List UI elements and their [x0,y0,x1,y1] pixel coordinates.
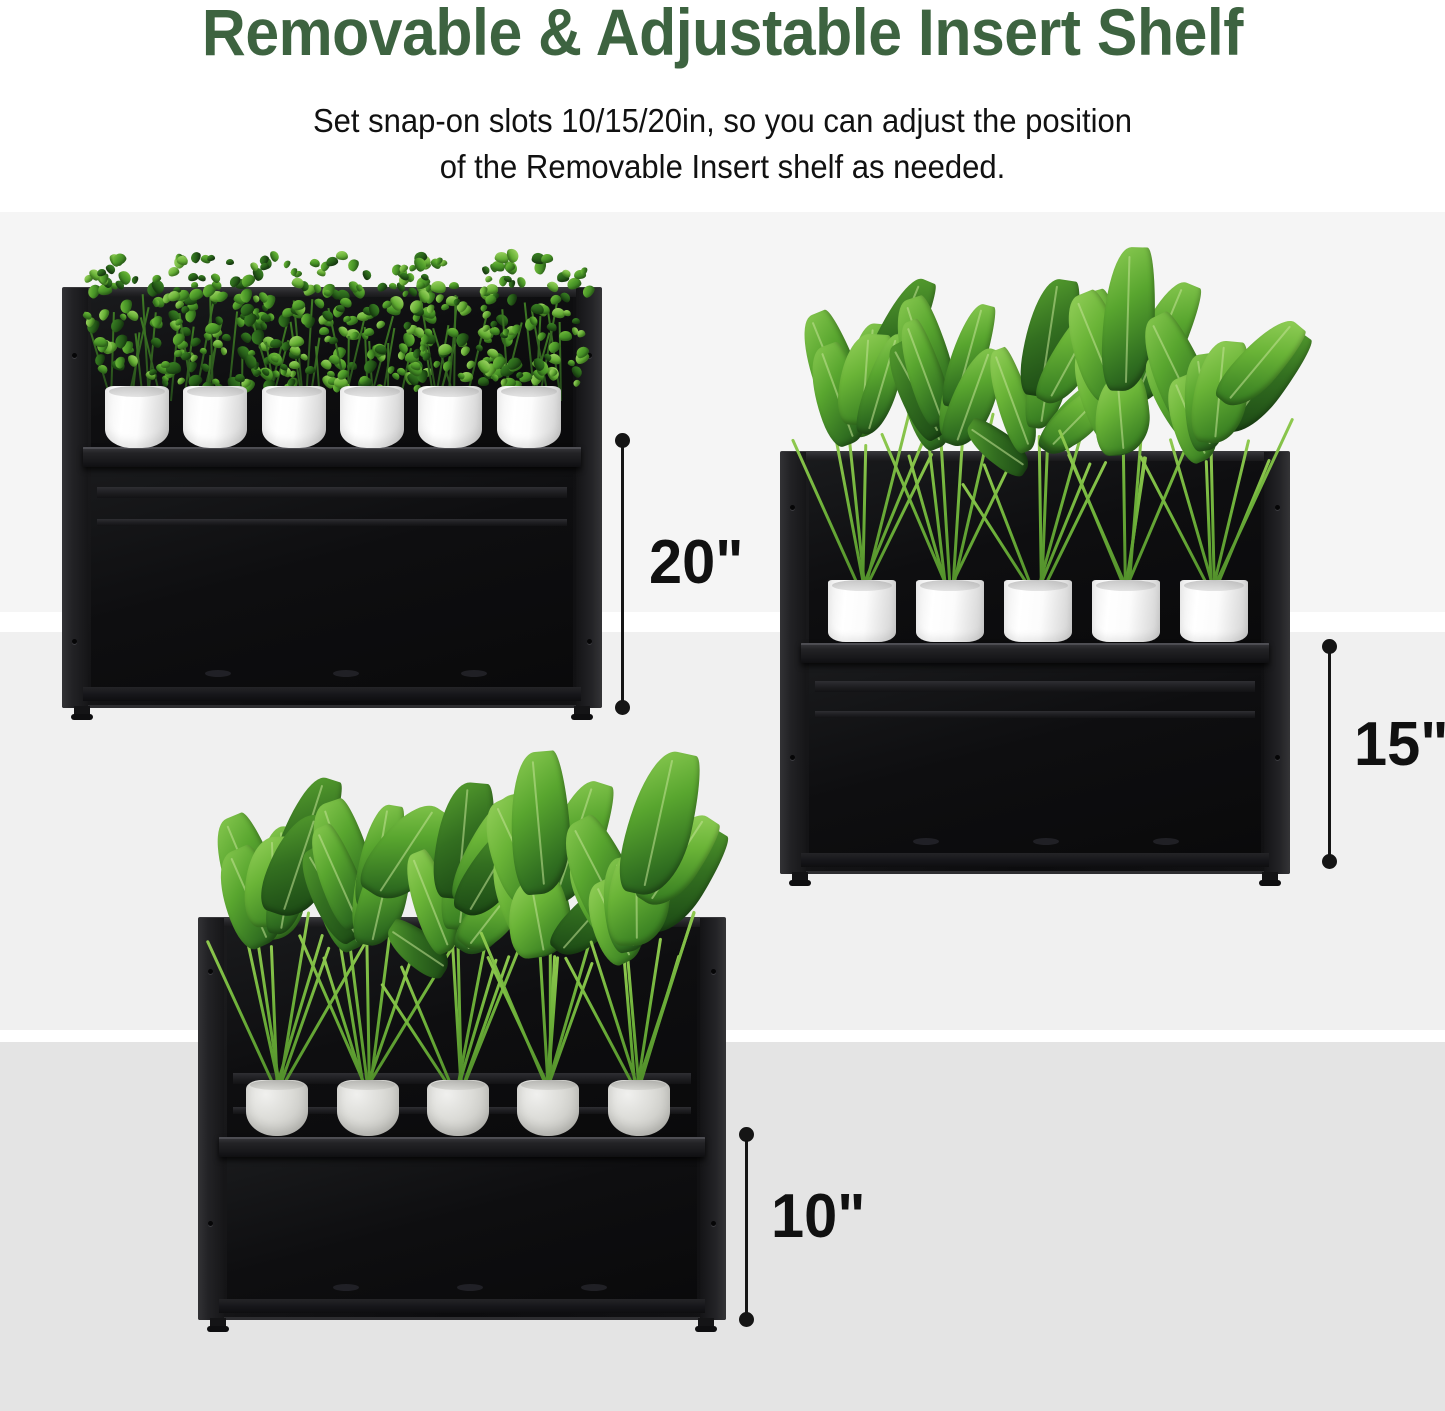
potted-plant [594,840,684,1136]
shrub-leaf [559,330,572,340]
dimension-label-10in: 10" [771,1186,865,1248]
adjustable-foot [792,872,808,885]
shrub-leaf [420,272,430,281]
pot-rim [521,1080,576,1090]
pot-rim [344,386,400,397]
dimension-label-20in: 20" [649,532,743,594]
shelf-unit-15in [780,452,1290,874]
cabinet-post-right [700,918,726,1320]
pot-rim [422,386,478,397]
plant-pot [246,1080,308,1136]
plant-pot [1092,580,1160,642]
plant-stalk [1123,456,1147,595]
floor-marking [461,670,487,677]
dimension-endpoint-top [615,433,630,448]
plant-foliage [1158,355,1270,595]
header: Removable & Adjustable Insert Shelf Set … [0,0,1445,212]
pot-rim [1184,580,1244,591]
cabinet-post-left [780,452,806,874]
shrub-leaf [239,272,257,289]
shrub-leaf [541,253,554,264]
plant-pot [828,580,896,642]
plant-pot [1180,580,1248,642]
shrub-leaf [97,308,111,323]
floor-marking [1033,838,1059,845]
shrub-leaf [515,276,526,289]
floor-marking [205,670,231,677]
plant-row-20in [98,236,568,448]
plant-pot [916,580,984,642]
plant-pot [340,386,404,448]
potted-plant [906,340,994,642]
potted-plant [490,236,568,448]
adjustable-foot [210,1318,226,1331]
cabinet-post-left [62,288,88,708]
shrub-leaf [190,282,198,289]
pot-rim [109,386,165,397]
plant-pot [183,386,247,448]
dimension-endpoint-bottom [615,700,630,715]
cavity-rail-upper [815,681,1255,692]
adjustable-foot [74,706,90,719]
shrub-leaf [187,287,204,302]
floor-marking [457,1284,483,1291]
shrub-leaf [282,259,292,269]
plant-pot [418,386,482,448]
plant-stalk [256,935,282,1093]
pot-rim [832,580,892,591]
shrub-leaf [572,318,580,325]
plant-stalk [399,965,455,1094]
shrub-leaf [376,281,389,293]
adjustable-foot [1262,872,1278,885]
shrub-leaf [362,269,373,281]
screw-hole [587,639,592,644]
removable-insert-shelf[interactable] [83,447,581,467]
pot-rim [431,1080,486,1090]
cabinet-floor [83,687,581,701]
shrub-leaf [416,281,426,290]
cavity-rail-lower [815,711,1255,718]
shrub-leaf [167,265,181,277]
dimension-line [1328,646,1331,862]
cabinet-floor [801,853,1269,867]
shrub-leaf [484,293,498,305]
shrub-leaf [375,319,386,330]
shrub-leaf [505,292,518,306]
removable-insert-shelf[interactable] [219,1137,705,1157]
shrub-leaf [397,341,410,355]
pot-rim [1008,580,1068,591]
screw-hole [208,1221,213,1226]
shrub-leaf [481,309,493,320]
plant-pot [1004,580,1072,642]
dimension-line [745,1134,748,1320]
pot-rim [187,386,243,397]
shrub-leaf [363,327,375,337]
subtitle-line-2: of the Removable Insert shelf as needed. [43,144,1401,190]
floor-marking [1153,838,1179,845]
lower-cavity-back-panel [91,467,573,689]
shrub-leaf [449,282,459,289]
pot-rim [1096,580,1156,591]
screw-hole [208,969,213,974]
shrub-leaf [430,280,447,294]
shrub-leaf [189,250,201,264]
cavity-rail-upper [97,487,567,498]
pot-rim [250,1080,305,1090]
shrub-leaf [226,259,234,265]
screw-hole [711,969,716,974]
shrub-leaf [559,290,572,303]
cabinet-floor [219,1299,705,1313]
floor-marking [333,1284,359,1291]
plant-pot [608,1080,670,1136]
shrub-leaf [325,256,339,268]
plant-pot [105,386,169,448]
shrub-leaf [130,275,138,284]
dimension-line [621,440,624,708]
screw-hole [1275,505,1280,510]
dimension-label-15in: 15" [1354,714,1445,776]
plant-row-15in [818,340,1258,642]
plant-stalk [270,945,279,1093]
pot-rim [266,386,322,397]
plant-pot [262,386,326,448]
shrub-leaf [489,326,500,336]
plant-foliage [581,857,697,1093]
shrub-leaf [221,333,232,342]
dimension-endpoint-bottom [1322,854,1337,869]
shrub-leaf [260,313,271,323]
shrub-leaf [259,262,269,271]
plant-pot [497,386,561,448]
pot-rim [340,1080,395,1090]
floor-marking [333,670,359,677]
shrub-leaf [489,319,498,328]
screw-hole [72,353,77,358]
shrub-leaf [546,322,558,333]
removable-insert-shelf[interactable] [801,643,1269,663]
shrub-leaf [207,254,216,262]
screw-hole [790,755,795,760]
adjustable-foot [574,706,590,719]
plant-foliage [477,251,581,401]
potted-plant [994,340,1082,642]
floor-marking [913,838,939,845]
shrub-leaf [572,378,581,387]
plant-pot [517,1080,579,1136]
plant-pot [337,1080,399,1136]
screw-hole [711,1221,716,1226]
shrub-foliage [477,251,581,401]
page-title: Removable & Adjustable Insert Shelf [58,0,1387,68]
pot-rim [611,1080,666,1090]
plant-row-10in [232,840,684,1136]
screw-hole [1275,755,1280,760]
lower-cavity-back-panel [227,1157,697,1301]
page-subtitle: Set snap-on slots 10/15/20in, so you can… [43,98,1401,190]
shrub-leaf [176,255,189,267]
shelf-unit-20in [62,288,602,708]
infographic-page: Removable & Adjustable Insert Shelf Set … [0,0,1445,1411]
screw-hole [790,505,795,510]
shrub-leaf [412,256,428,274]
plant-pot [427,1080,489,1136]
subtitle-line-1: Set snap-on slots 10/15/20in, so you can… [43,98,1401,144]
screw-hole [72,639,77,644]
shrub-leaf [269,339,281,349]
shrub-leaf [199,347,208,355]
potted-plant [1170,340,1258,642]
dimension-endpoint-top [739,1127,754,1142]
shrub-leaf [197,274,206,282]
pot-rim [501,386,557,397]
shrub-leaf [250,328,265,346]
shelf-unit-10in [198,918,726,1320]
cavity-rail-lower [97,519,567,526]
shrub-leaf [288,334,305,348]
adjustable-foot [698,1318,714,1331]
dimension-endpoint-top [1322,639,1337,654]
pot-rim [920,580,980,591]
shrub-leaf [475,344,484,353]
floor-marking [581,1284,607,1291]
dimension-endpoint-bottom [739,1312,754,1327]
shrub-leaf [329,337,339,345]
